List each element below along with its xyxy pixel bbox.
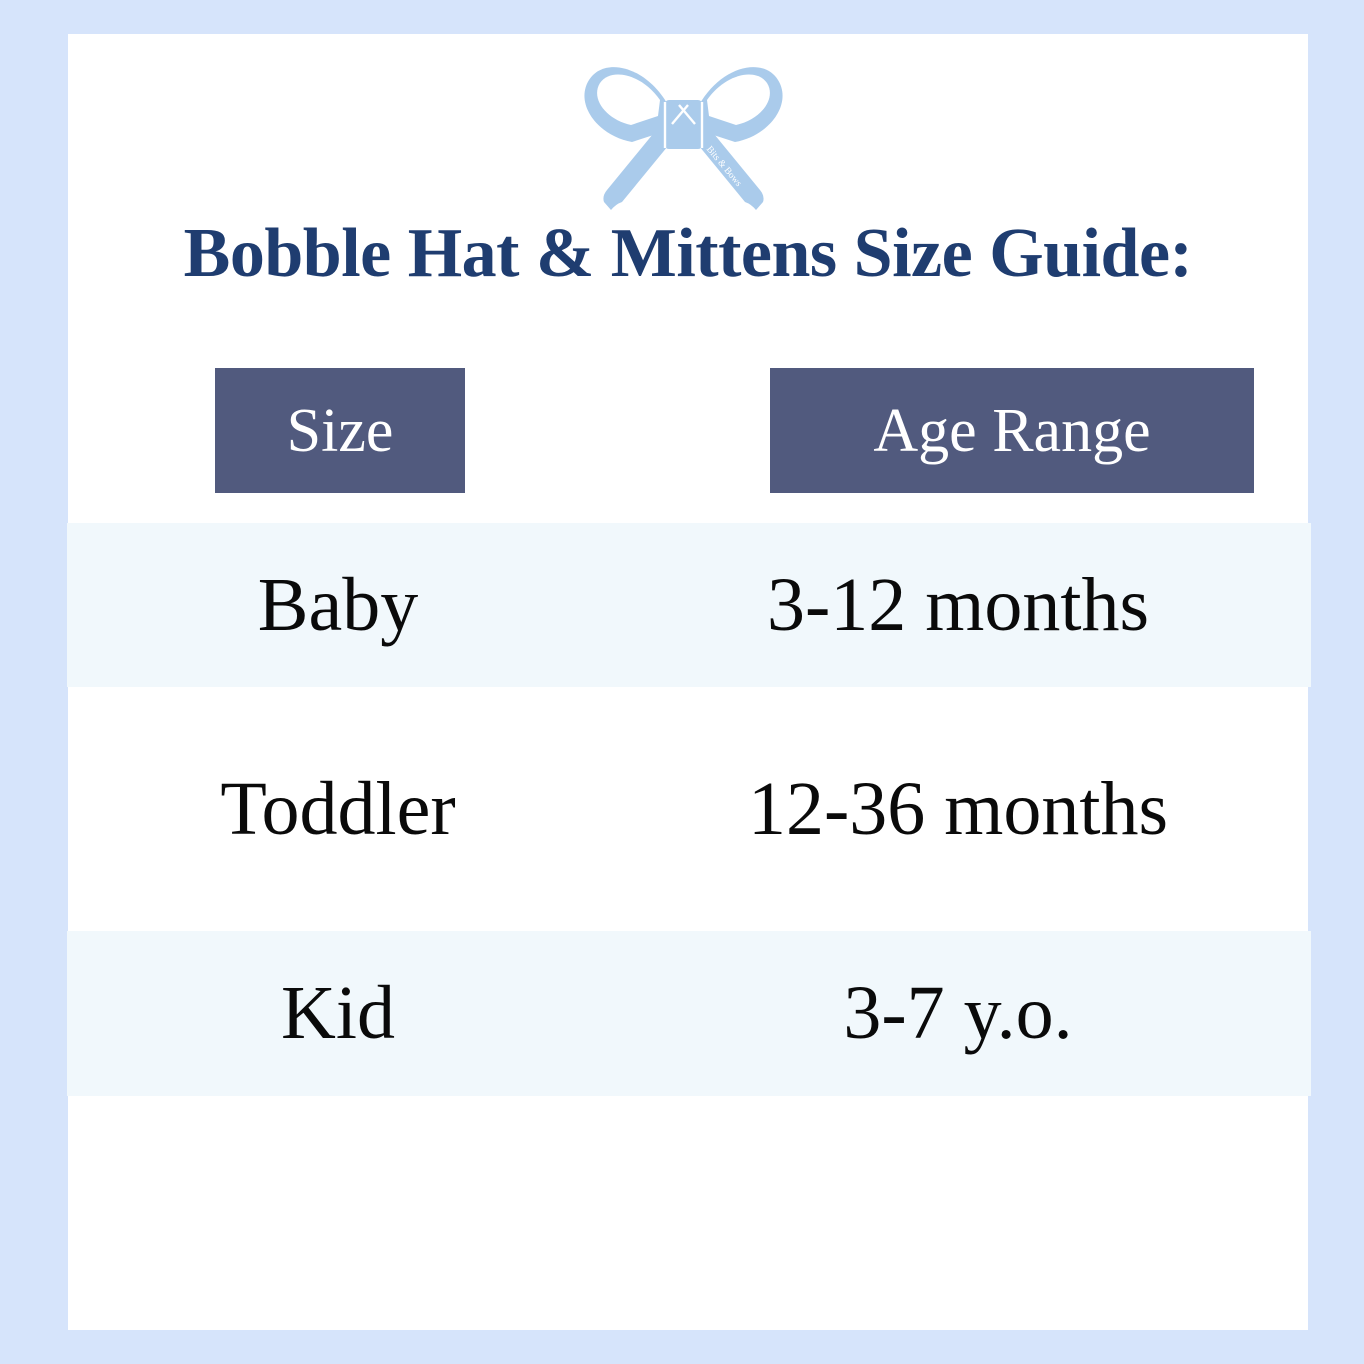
table-row: Toddler 12-36 months [68, 727, 1308, 891]
table-empty-row [68, 1096, 1308, 1330]
column-header-age-range: Age Range [770, 368, 1254, 493]
table-row: Baby 3-12 months [68, 523, 1308, 687]
cell-size: Baby [68, 567, 608, 643]
cell-size: Toddler [68, 771, 608, 847]
table-row: Kid 3-7 y.o. [68, 931, 1308, 1095]
cell-age-range: 12-36 months [608, 771, 1308, 847]
cell-age-range: 3-7 y.o. [608, 975, 1308, 1051]
page-frame: Bits & Bows Bobble Hat & Mittens Size Gu… [0, 0, 1364, 1364]
page-title: Bobble Hat & Mittens Size Guide: [68, 216, 1308, 292]
brand-logo: Bits & Bows [576, 52, 791, 214]
cell-size: Kid [68, 975, 608, 1051]
cell-age-range: 3-12 months [608, 567, 1308, 643]
column-header-size: Size [215, 368, 465, 493]
